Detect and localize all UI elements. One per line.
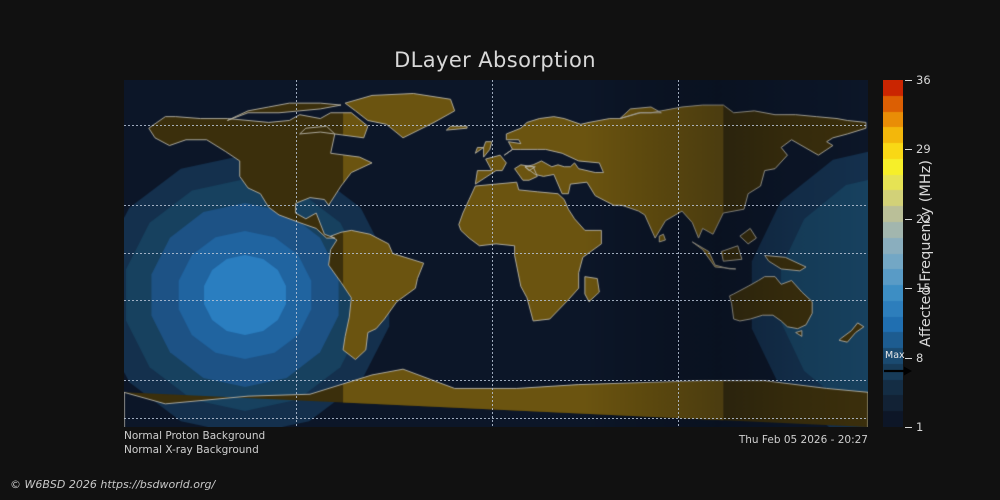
dlayer-absorption-plot: DLayer Absorption 3629221581 Max Affecte… [0,0,1000,500]
latitude-gridline [124,205,868,206]
colorbar-axis-label: Affected Frequency (MHz) [916,80,936,427]
xray-background-status: Normal X-ray Background [124,444,259,456]
longitude-gridline [678,80,679,427]
latitude-gridline [124,125,868,126]
colorbar-tick [905,80,912,81]
proton-background-status: Normal Proton Background [124,430,265,442]
max-marker-label: Max [885,350,905,361]
colorbar-max-marker: Max [883,350,913,382]
colorbar-tick [905,149,912,150]
latitude-gridline [124,300,868,301]
copyright-notice: © W6BSD 2026 https://bsdworld.org/ [10,478,215,491]
latitude-gridline [124,380,868,381]
colorbar-tick [905,288,912,289]
colorbar-tick [905,219,912,220]
colorbar-tick [905,427,912,428]
max-arrow-icon [884,366,912,376]
colorbar[interactable]: 3629221581 Max [883,80,903,427]
longitude-gridline [492,80,493,427]
page-title: DLayer Absorption [0,48,990,72]
timestamp: Thu Feb 05 2026 - 20:27 [739,434,868,446]
latitude-gridline [124,418,868,419]
longitude-gridline [296,80,297,427]
world-map[interactable] [124,80,868,427]
latitude-gridline [124,253,868,254]
